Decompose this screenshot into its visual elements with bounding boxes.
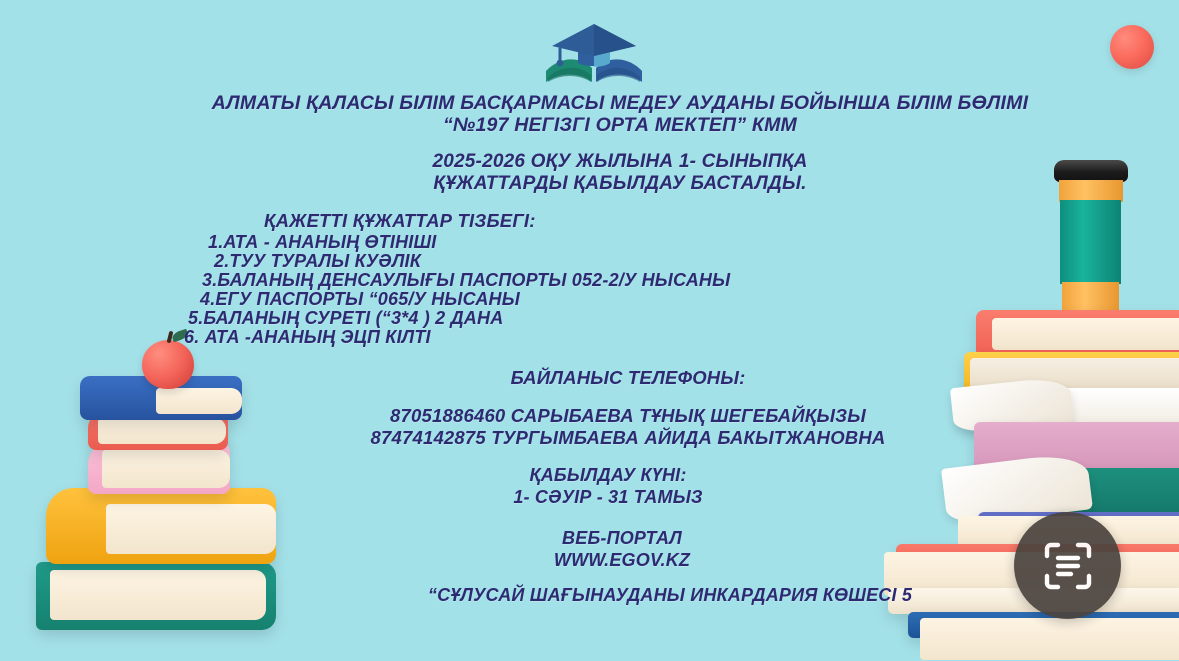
schedule-period: 1- СӘУІР - 31 ТАМЫЗ — [513, 487, 702, 508]
announcement-line-2: ҚҰЖАТТАРДЫ ҚАБЫЛДАУ БАСТАЛДЫ. — [433, 173, 806, 195]
schedule-heading: ҚАБЫЛДАУ КҮНІ: — [529, 465, 686, 486]
document-item-1: 1.АТА - АНАНЫҢ ӨТІНІШІ — [208, 232, 437, 253]
scan-text-button[interactable] — [1014, 512, 1121, 619]
document-item-3: 3.БАЛАНЫҢ ДЕНСАУЛЫҒЫ ПАСПОРТЫ 052-2/У НЫ… — [202, 270, 730, 291]
address-line: “СҰЛУСАЙ ШАҒЫНАУДАНЫ ИНКАРДАРИЯ КӨШЕСІ 5 — [428, 585, 912, 606]
poster-canvas: АЛМАТЫ ҚАЛАСЫ БІЛІМ БАСҚАРМАСЫ МЕДЕУ АУД… — [0, 0, 1179, 661]
document-item-4: 4.ЕГУ ПАСПОРТЫ “065/У НЫСАНЫ — [200, 289, 520, 310]
portal-label: ВЕБ-ПОРТАЛ — [562, 528, 682, 549]
documents-heading: ҚАЖЕТТІ ҚҰЖАТТАР ТІЗБЕГІ: — [264, 210, 536, 232]
document-item-6: 6. АТА -АНАНЫҢ ЭЦП КІЛТІ — [184, 327, 431, 348]
document-item-5: 5.БАЛАНЫҢ СУРЕТІ (“3*4 ) 2 ДАНА — [188, 308, 503, 329]
announcement-line-1: 2025-2026 ОҚУ ЖЫЛЫНА 1- СЫНЫПҚА — [432, 151, 807, 173]
poster-text: АЛМАТЫ ҚАЛАСЫ БІЛІМ БАСҚАРМАСЫ МЕДЕУ АУД… — [0, 0, 1179, 661]
contact-entry-2: 87474142875 ТУРГЫМБАЕВА АЙИДА БАКЫТЖАНОВ… — [371, 427, 886, 449]
document-item-2: 2.ТУУ ТУРАЛЫ КУӘЛІК — [214, 251, 421, 272]
contacts-heading: БАЙЛАНЫС ТЕЛЕФОНЫ: — [511, 367, 746, 389]
page-title-line-1: АЛМАТЫ ҚАЛАСЫ БІЛІМ БАСҚАРМАСЫ МЕДЕУ АУД… — [212, 92, 1028, 115]
scan-text-icon — [1039, 537, 1097, 595]
page-title-line-2: “№197 НЕГІЗГІ ОРТА МЕКТЕП” КММ — [443, 114, 797, 137]
contact-entry-1: 87051886460 САРЫБАЕВА ТҰНЫҚ ШЕГЕБАЙҚЫЗЫ — [390, 405, 866, 427]
portal-url[interactable]: WWW.EGOV.KZ — [554, 550, 690, 571]
